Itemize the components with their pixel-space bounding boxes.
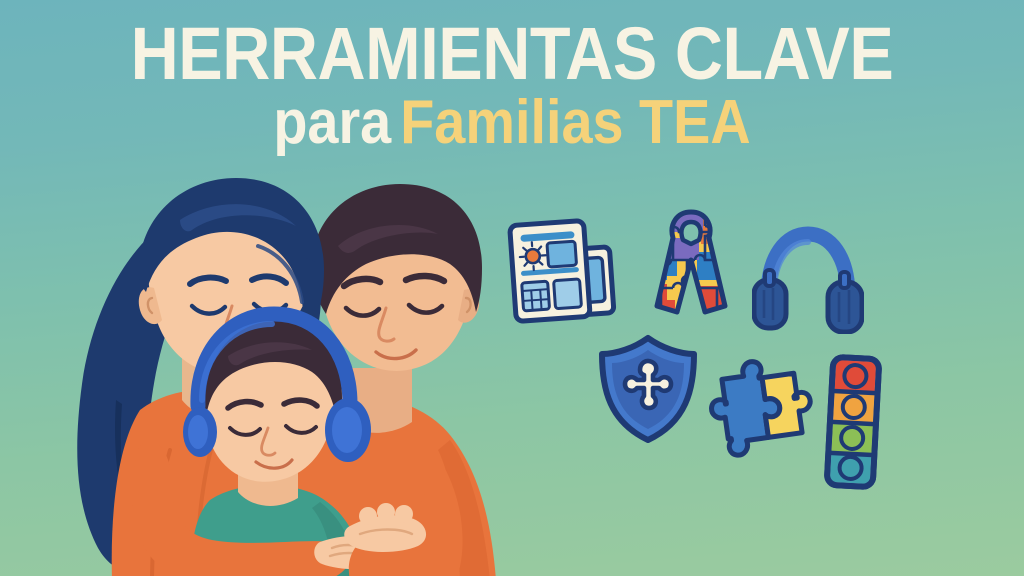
interlocking-puzzle-pieces-icon[interactable]: [708, 352, 816, 460]
family-illustration: [20, 150, 520, 576]
autism-puzzle-ribbon-icon[interactable]: [643, 198, 739, 320]
headline-line-1: HERRAMIENTAS CLAVE: [51, 20, 973, 88]
shield-puzzle-icon[interactable]: [594, 332, 702, 446]
headline-highlight: Familias TEA: [400, 88, 750, 157]
traffic-light-icon[interactable]: [818, 352, 888, 492]
poster-canvas: HERRAMIENTAS CLAVE paraFamilias TEA: [0, 0, 1024, 576]
noise-cancelling-headphones-icon[interactable]: [752, 222, 864, 334]
headline-prefix: para: [273, 88, 391, 157]
headline-block: HERRAMIENTAS CLAVE paraFamilias TEA: [0, 20, 1024, 153]
visual-schedule-board-icon[interactable]: [505, 212, 623, 332]
headline-line-2: paraFamilias TEA: [51, 94, 973, 153]
